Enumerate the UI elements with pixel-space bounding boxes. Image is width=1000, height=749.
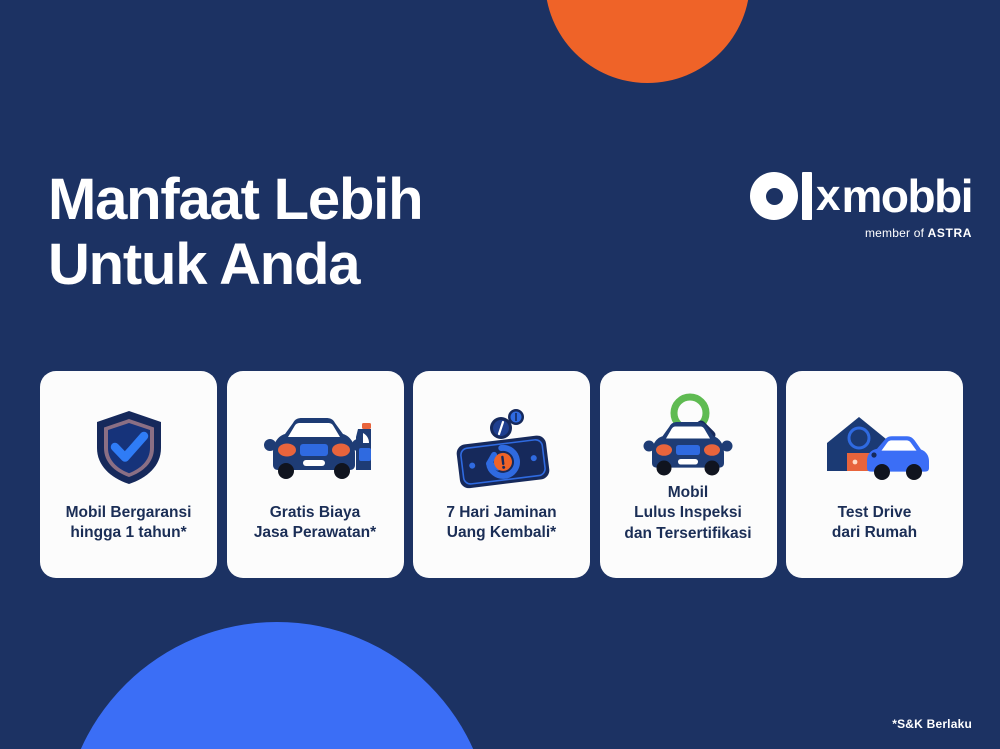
- benefit-label-line: hingga 1 tahun*: [66, 523, 192, 543]
- benefit-card-inspection[interactable]: Mobil Lulus Inspeksi dan Tersertifikasi: [600, 371, 777, 578]
- logo-bar-icon: [802, 172, 812, 220]
- logo-tagline: member of ASTRA: [750, 226, 972, 240]
- home-test-drive-icon: [819, 397, 931, 497]
- benefit-card-label: Gratis Biaya Jasa Perawatan*: [250, 503, 380, 568]
- logo-x-letter: x: [816, 174, 840, 218]
- benefit-card-warranty[interactable]: Mobil Bergaransi hingga 1 tahun*: [40, 371, 217, 578]
- page-title: Manfaat Lebih Untuk Anda: [48, 168, 422, 298]
- benefit-card-label: Mobil Bergaransi hingga 1 tahun*: [62, 503, 196, 568]
- decorative-orange-circle: [545, 0, 750, 83]
- logo-tagline-prefix: member of: [865, 226, 928, 240]
- benefit-card-label: 7 Hari Jaminan Uang Kembali*: [442, 503, 560, 568]
- benefit-card-home-test-drive[interactable]: Test Drive dari Rumah: [786, 371, 963, 578]
- footnote-terms: *S&K Berlaku: [892, 717, 972, 731]
- page-title-line-1: Manfaat Lebih: [48, 167, 422, 232]
- decorative-blue-circle: [62, 622, 492, 749]
- benefit-label-line: dan Tersertifikasi: [624, 524, 751, 544]
- benefit-card-free-service[interactable]: Gratis Biaya Jasa Perawatan*: [227, 371, 404, 578]
- benefit-label-line: Uang Kembali*: [446, 523, 556, 543]
- logo-o-icon: [750, 172, 798, 220]
- money-back-icon: [448, 397, 556, 497]
- brand-logo: x mobbi member of ASTRA: [750, 170, 972, 240]
- shield-check-icon: [93, 397, 165, 497]
- logo-wordmark: mobbi: [842, 173, 972, 219]
- benefit-label-line: Jasa Perawatan*: [254, 523, 376, 543]
- benefit-card-label: Test Drive dari Rumah: [828, 503, 921, 568]
- benefit-card-money-back[interactable]: 7 Hari Jaminan Uang Kembali*: [413, 371, 590, 578]
- car-inspection-icon: [640, 389, 736, 481]
- benefit-label-line: Mobil Bergaransi: [66, 503, 192, 523]
- benefit-label-line: Gratis Biaya: [254, 503, 376, 523]
- benefit-card-label: Mobil Lulus Inspeksi dan Tersertifikasi: [620, 483, 755, 568]
- benefit-label-line: 7 Hari Jaminan: [446, 503, 556, 523]
- benefit-label-line: Test Drive: [832, 503, 917, 523]
- banner-stage: Manfaat Lebih Untuk Anda x mobbi member …: [0, 0, 1000, 749]
- page-title-line-2: Untuk Anda: [48, 233, 422, 298]
- logo-tagline-brand: ASTRA: [928, 226, 972, 240]
- benefit-label-line: Mobil: [624, 483, 751, 503]
- car-oil-service-icon: [259, 397, 371, 497]
- benefit-label-line: dari Rumah: [832, 523, 917, 543]
- logo-mark: x mobbi: [750, 170, 972, 222]
- benefit-label-line: Lulus Inspeksi: [624, 503, 751, 523]
- benefit-card-list: Mobil Bergaransi hingga 1 tahun*: [40, 371, 963, 578]
